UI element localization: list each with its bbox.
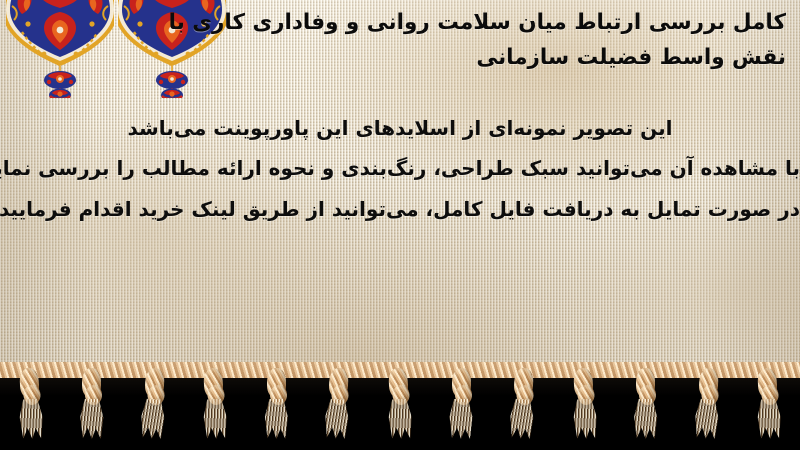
fringe-tassel xyxy=(691,367,725,442)
title-line-2: نقش واسط فضیلت سازمانی xyxy=(226,41,786,76)
persian-carpet-medallion-left-icon xyxy=(6,0,114,102)
body-line-1: این تصویر نمونه‌ای از اسلایدهای این پاور… xyxy=(0,108,800,148)
tassel-skirt xyxy=(79,399,104,439)
tassel-skirt xyxy=(508,398,535,439)
tassel-skirt xyxy=(139,398,166,439)
tassel-skirt xyxy=(202,398,229,439)
fringe-tassel xyxy=(631,368,661,442)
tassel-skirt xyxy=(17,398,44,439)
slide-body: این تصویر نمونه‌ای از اسلایدهای این پاور… xyxy=(0,108,800,229)
tassel-skirt xyxy=(756,398,783,439)
body-line-2: با مشاهده آن می‌توانید سبک طراحی، رنگ‌بن… xyxy=(0,148,800,188)
tassel-skirt xyxy=(633,399,658,439)
tassel-skirt xyxy=(264,399,289,439)
fringe-tassel xyxy=(14,367,48,442)
fringe-tassel xyxy=(198,367,232,442)
fringe-tassel xyxy=(568,367,602,442)
title-line-1: کامل بررسی ارتباط میان سلامت روانی و وفا… xyxy=(226,6,786,41)
tassel-skirt xyxy=(387,398,414,439)
fringe-tassel xyxy=(77,368,107,442)
fringe-tassel xyxy=(322,367,356,442)
fringe-tassel xyxy=(383,367,417,442)
carpet-fringe-tassels xyxy=(0,362,800,450)
fringe-tassel xyxy=(262,368,292,442)
tassel-skirt xyxy=(571,398,598,439)
tassel-skirt xyxy=(693,398,720,439)
tassel-skirt xyxy=(324,398,351,439)
slide-title: کامل بررسی ارتباط میان سلامت روانی و وفا… xyxy=(226,6,786,76)
fringe-tassel xyxy=(506,367,540,442)
fringe-tassel xyxy=(447,368,477,442)
tassel-skirt xyxy=(449,399,474,439)
slide-canvas: کامل بررسی ارتباط میان سلامت روانی و وفا… xyxy=(0,0,800,450)
body-line-3: در صورت تمایل به دریافت فایل کامل، می‌تو… xyxy=(0,189,800,229)
fringe-tassel xyxy=(137,367,171,442)
fringe-tassel xyxy=(752,367,786,442)
